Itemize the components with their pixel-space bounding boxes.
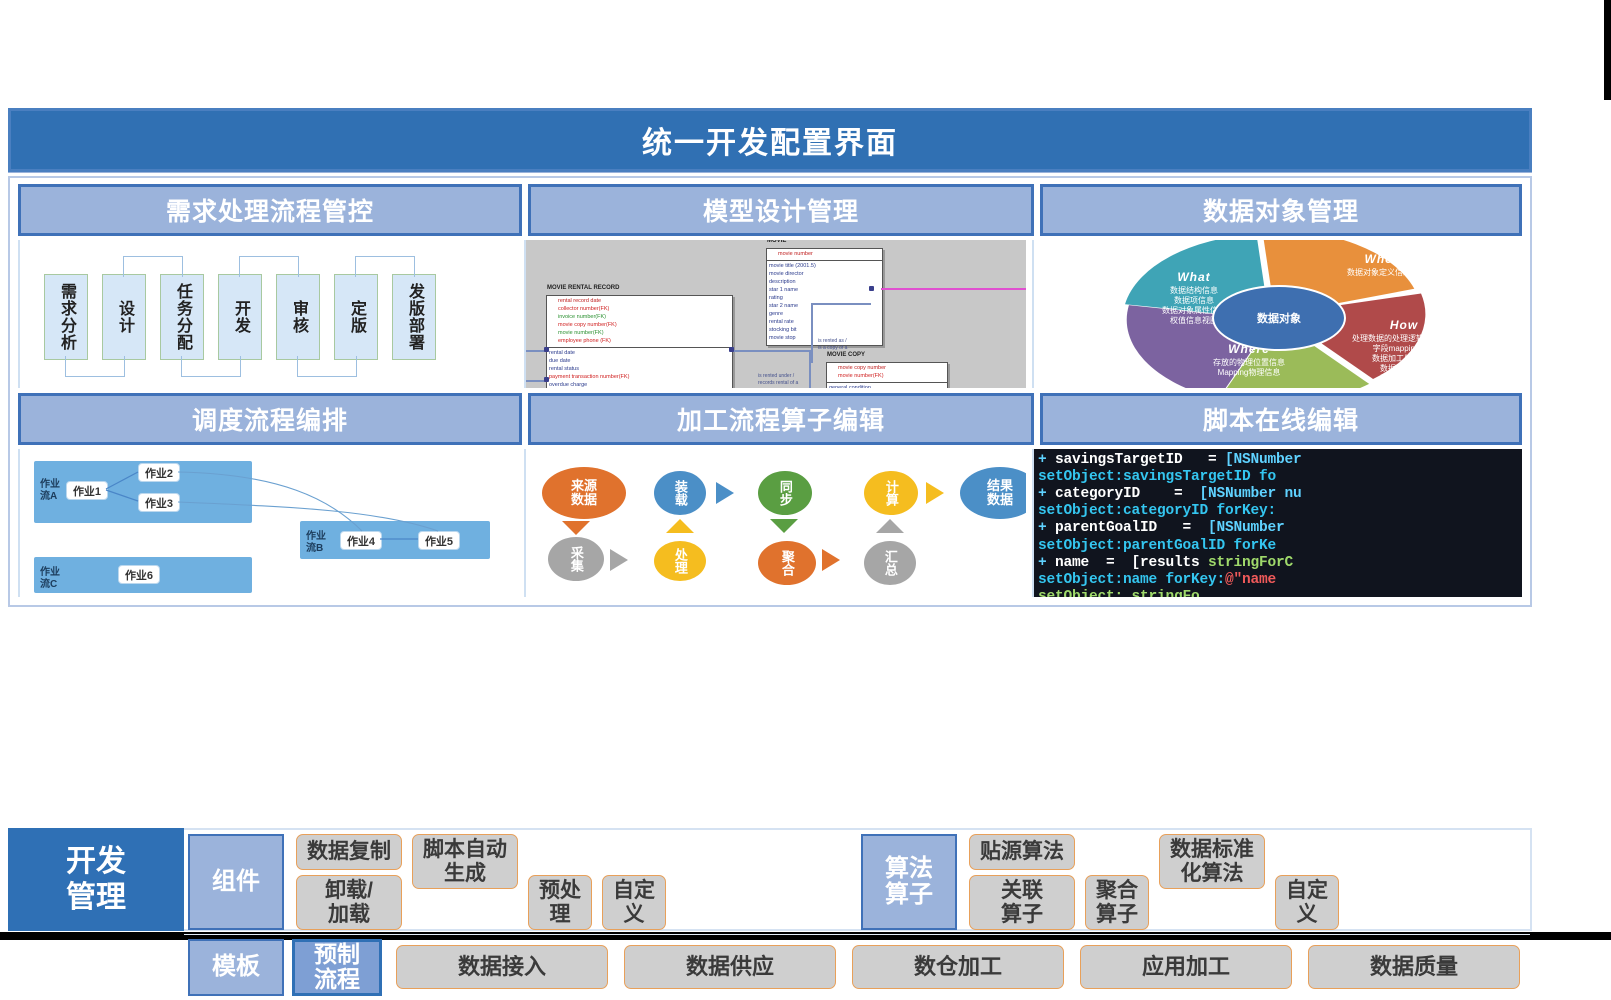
component-group-1: 数据复制 卸载/加载	[296, 834, 402, 930]
requirement-step-3[interactable]: 任务分配	[160, 274, 204, 360]
component-group-3: 预处理	[528, 834, 592, 930]
chip-preprocess[interactable]: 预处理	[528, 875, 592, 930]
row1-bodies: 需求分析设计任务分配开发审核定版发版部署 MOVIE RENTAL RECORD…	[18, 240, 1522, 388]
chip-prebuilt-1[interactable]: 数据接入	[396, 945, 608, 989]
job-node-1[interactable]: 作业1	[66, 481, 108, 500]
flow-connector	[355, 256, 415, 277]
job-node-6[interactable]: 作业6	[118, 565, 160, 584]
chip-relation-operator[interactable]: 关联算子	[969, 875, 1075, 930]
er-entity-attributes: general condition	[827, 383, 947, 388]
code-line-3: + categoryID = [NSNumber nu	[1038, 486, 1522, 503]
category-template[interactable]: 模板	[188, 939, 284, 996]
operator-node-7[interactable]: 计算	[864, 471, 918, 515]
er-relationship-line	[811, 303, 813, 363]
prebuilt-flow-chip-list: 数据接入数据供应数仓加工应用加工数据质量	[386, 935, 1530, 1000]
script-editor-panel[interactable]: + savingsTargetID = [NSNumbersetObject:s…	[1032, 449, 1522, 597]
requirement-step-5[interactable]: 审核	[276, 274, 320, 360]
chip-data-standardization[interactable]: 数据标准化算法	[1159, 834, 1265, 889]
operator-node-6[interactable]: 聚合	[758, 541, 816, 585]
job-flow-label-2: 作业流B	[306, 531, 326, 554]
arrow-sync-to-aggregate	[770, 519, 798, 533]
chip-prebuilt-5[interactable]: 数据质量	[1308, 945, 1520, 989]
dev-row-top: 组件 数据复制 卸载/加载 脚本自动生成 预处理 自定义	[184, 830, 1530, 935]
flow-connector	[297, 356, 357, 377]
er-relationship-line	[731, 350, 811, 352]
dev-management-section: 开发管理 组件 数据复制 卸载/加载 脚本自动生成 预处理	[8, 828, 1532, 931]
pie-label-when: When日期时间控制条件	[1034, 288, 1144, 334]
requirement-step-7[interactable]: 发版部署	[392, 274, 436, 360]
er-relationship-label: is rented under /records rental of a	[758, 373, 798, 386]
arrow-collect-to-process	[610, 549, 628, 571]
er-connector-dot	[729, 347, 734, 352]
chip-prebuilt-3[interactable]: 数仓加工	[852, 945, 1064, 989]
right-edge-band	[1604, 0, 1611, 100]
component-group-4: 自定义	[602, 834, 666, 930]
operator-node-9[interactable]: 结果数据	[960, 467, 1026, 519]
requirement-step-4[interactable]: 开发	[218, 274, 262, 360]
operator-node-8[interactable]: 汇总	[864, 541, 916, 585]
arrow-process-to-load	[666, 519, 694, 533]
flow-connector	[239, 256, 299, 277]
code-line-7: + name = [results stringForC	[1038, 555, 1522, 572]
dev-row-bottom: 模板 预制流程 数据接入数据供应数仓加工应用加工数据质量	[184, 935, 1530, 1000]
operator-node-1[interactable]: 来源数据	[542, 467, 626, 519]
dev-management-content: 组件 数据复制 卸载/加载 脚本自动生成 预处理 自定义	[184, 828, 1532, 931]
panel-title-data-object[interactable]: 数据对象管理	[1040, 184, 1522, 236]
code-line-9: setObject: stringFo	[1038, 589, 1522, 597]
chip-custom-component[interactable]: 自定义	[602, 875, 666, 930]
er-entity-3[interactable]: MOVIE COPYmovie copy numbermovie number(…	[826, 362, 948, 388]
er-entity-keys: rental record datecollector number(FK)in…	[547, 296, 732, 348]
flow-connector	[65, 356, 125, 377]
category-algorithm-operators[interactable]: 算法算子	[861, 834, 957, 930]
page-title: 统一开发配置界面	[8, 108, 1532, 172]
arrow-calc-to-result	[926, 482, 944, 504]
arrow-aggregate-to-summary	[822, 549, 840, 571]
panel-title-scheduling-flow[interactable]: 调度流程编排	[18, 393, 522, 445]
er-relationship-line	[811, 303, 871, 305]
job-node-4[interactable]: 作业4	[340, 531, 382, 550]
chip-unload-load[interactable]: 卸载/加载	[296, 875, 402, 930]
er-relationship-line	[881, 288, 1026, 290]
row2-bodies: 作业流A作业流B作业流C作业1作业2作业3作业4作业5作业6 来源数据采集装载处…	[18, 449, 1522, 597]
panels-container: 需求处理流程管控 模型设计管理 数据对象管理 需求分析设计任务分配开发审核定版发…	[8, 176, 1532, 607]
requirement-step-2[interactable]: 设计	[102, 274, 146, 360]
job-flow-label-1: 作业流A	[40, 479, 60, 502]
operator-node-3[interactable]: 装载	[654, 471, 706, 515]
chip-prebuilt-2[interactable]: 数据供应	[624, 945, 836, 989]
chip-data-copy[interactable]: 数据复制	[296, 834, 402, 870]
job-node-3[interactable]: 作业3	[138, 493, 180, 512]
category-prebuilt-flow[interactable]: 预制流程	[292, 939, 382, 996]
job-flow-label-3: 作业流C	[40, 567, 60, 590]
code-line-8: setObject:name forKey:@"name	[1038, 572, 1522, 589]
row1-headers: 需求处理流程管控 模型设计管理 数据对象管理	[18, 184, 1522, 236]
er-entity-title: MOVIE	[767, 240, 786, 244]
chip-script-autogen[interactable]: 脚本自动生成	[412, 834, 518, 889]
er-connector-dot	[544, 347, 549, 352]
operator-node-2[interactable]: 采集	[548, 537, 604, 581]
flow-connector	[181, 356, 241, 377]
panel-title-requirement-flow[interactable]: 需求处理流程管控	[18, 184, 522, 236]
scheduling-flow-diagram[interactable]: 作业流A作业流B作业流C作业1作业2作业3作业4作业5作业6	[18, 449, 518, 597]
pie-center-label: 数据对象	[1212, 285, 1346, 351]
category-components[interactable]: 组件	[188, 834, 284, 930]
job-flow-group-2[interactable]	[300, 521, 490, 559]
algo-group-1: 贴源算法 关联算子	[969, 834, 1075, 930]
code-line-2: setObject:savingsTargetID fo	[1038, 469, 1522, 486]
data-object-pie-chart[interactable]: What数据结构信息数据项信息数据对象属性信息权值信息视图Who数据对象定义信息…	[1032, 240, 1522, 388]
er-relationship-label: is rented as /is a copy of a	[818, 338, 847, 351]
code-line-1: + savingsTargetID = [NSNumber	[1038, 452, 1522, 469]
requirement-step-1[interactable]: 需求分析	[44, 274, 88, 360]
pie-label-how: How处理数据的处理逻辑方法规则字段mapping信息数据加工处理规则数据转换规…	[1349, 318, 1459, 384]
requirement-step-6[interactable]: 定版	[334, 274, 378, 360]
flow-connector	[123, 256, 183, 277]
chip-aggregate-operator[interactable]: 聚合算子	[1085, 875, 1149, 930]
dev-management-title: 开发管理	[8, 828, 184, 931]
panel-title-operator-edit[interactable]: 加工流程算子编辑	[528, 393, 1034, 445]
code-line-5: + parentGoalID = [NSNumber	[1038, 520, 1522, 537]
er-entity-1[interactable]: MOVIE RENTAL RECORDrental record datecol…	[546, 295, 733, 388]
er-connector-dot	[544, 377, 549, 382]
er-entity-attributes: rental datedue daterental statuspayment …	[547, 348, 732, 388]
er-entity-title: MOVIE RENTAL RECORD	[547, 285, 619, 291]
arrow-source-to-collect	[562, 521, 590, 535]
chip-prebuilt-4[interactable]: 应用加工	[1080, 945, 1292, 989]
er-entity-keys: movie copy numbermovie number(FK)	[827, 363, 947, 383]
operator-flow-diagram[interactable]: 来源数据采集装载处理同步聚合计算汇总结果数据	[524, 449, 1026, 597]
chip-custom-algorithm[interactable]: 自定义	[1275, 875, 1339, 930]
er-connector-dot	[869, 286, 874, 291]
chip-source-algorithm[interactable]: 贴源算法	[969, 834, 1075, 870]
requirement-flow-diagram[interactable]: 需求分析设计任务分配开发审核定版发版部署	[18, 240, 518, 388]
job-node-5[interactable]: 作业5	[418, 531, 460, 550]
code-line-4: setObject:categoryID forKey:	[1038, 503, 1522, 520]
model-design-er-diagram[interactable]: MOVIE RENTAL RECORDrental record datecol…	[524, 240, 1026, 388]
algo-group-3: 数据标准化算法	[1159, 834, 1265, 930]
unified-dev-config-board: 统一开发配置界面 需求处理流程管控 模型设计管理 数据对象管理 需求分析设计任务…	[8, 108, 1532, 820]
operator-node-5[interactable]: 同步	[758, 471, 812, 515]
operator-node-4[interactable]: 处理	[654, 541, 706, 581]
pie-label-who: Who数据对象定义信息	[1324, 252, 1434, 278]
algorithm-chip-list: 贴源算法 关联算子 聚合算子 数据标准化算法 自定义	[961, 830, 1530, 934]
er-entity-2[interactable]: MOVIEmovie numbermovie title (2001.5)mov…	[766, 248, 883, 346]
er-entity-title: MOVIE COPY	[827, 352, 865, 358]
er-entity-keys: movie number	[767, 249, 882, 261]
panel-title-model-design[interactable]: 模型设计管理	[528, 184, 1034, 236]
algo-group-2: 聚合算子	[1085, 834, 1149, 930]
component-chip-list: 数据复制 卸载/加载 脚本自动生成 预处理 自定义	[288, 830, 857, 934]
job-node-2[interactable]: 作业2	[138, 463, 180, 482]
panel-title-script-editor[interactable]: 脚本在线编辑	[1040, 393, 1522, 445]
arrow-summary-to-calc	[876, 519, 904, 533]
row2-headers: 调度流程编排 加工流程算子编辑 脚本在线编辑	[18, 393, 1522, 445]
arrow-load-to-sync	[716, 482, 734, 504]
component-group-2: 脚本自动生成	[412, 834, 518, 930]
code-line-6: setObject:parentGoalID forKe	[1038, 538, 1522, 555]
algo-group-4: 自定义	[1275, 834, 1339, 930]
